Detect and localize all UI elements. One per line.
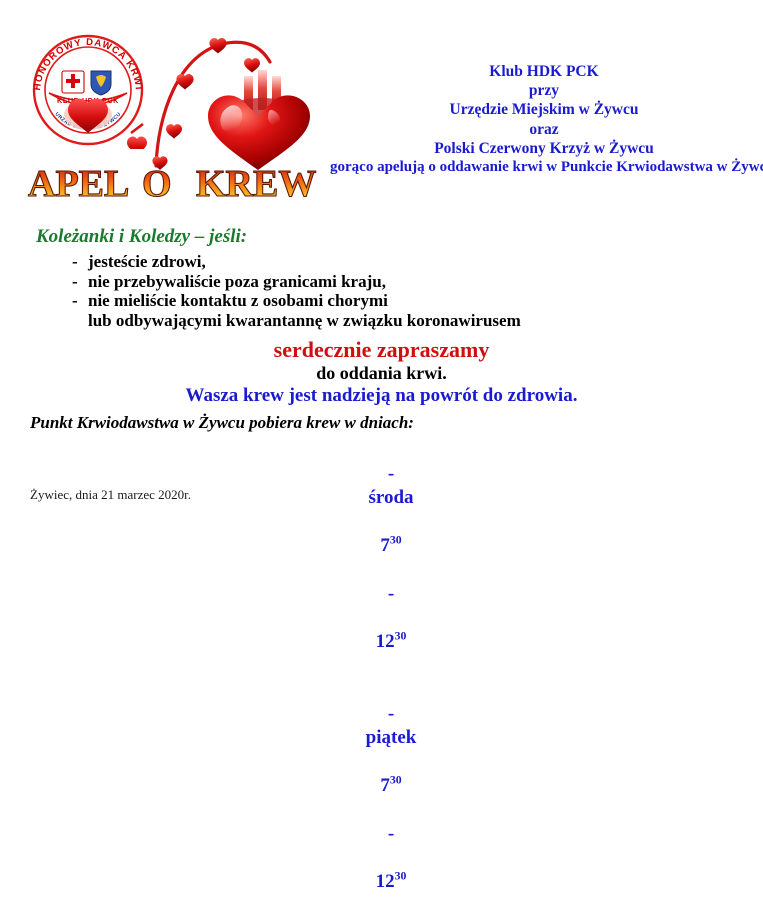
hours-separator: - xyxy=(388,823,394,844)
hdk-pck-emblem: HONOROWY DAWCA KRWI URZĄD MIEJSKI W ŻYWC… xyxy=(27,27,149,149)
title-word-o: O xyxy=(142,163,172,204)
header-line-5: Polski Czerwony Krzyż w Żywcu xyxy=(330,139,758,158)
header-line-4: oraz xyxy=(330,120,758,139)
list-item: - jesteście zdrowi, xyxy=(72,252,521,272)
title-word-krew: KREW xyxy=(196,163,316,204)
list-item: - nie przebywaliście poza granicami kraj… xyxy=(72,272,521,292)
hours-to-hour: 12 xyxy=(376,631,395,652)
cta-invite-line: serdecznie zapraszamy xyxy=(0,337,763,362)
header-line-2: przy xyxy=(330,81,758,100)
hours-day-label: środa xyxy=(368,487,413,508)
hours-dash: - xyxy=(388,703,394,724)
list-item-continuation: lub odbywającymi kwarantannę w związku k… xyxy=(72,311,521,331)
hours-to-min: 30 xyxy=(395,870,407,883)
emblem-pointer-heart-icon xyxy=(127,136,147,149)
emblem-coat-of-arms-icon xyxy=(91,71,111,95)
hours-row-friday: - piątek 730 - 1230 xyxy=(0,678,763,918)
header-line-6: gorąco apelują o oddawanie krwi w Punkci… xyxy=(330,158,758,177)
title-word-apel: APEL xyxy=(28,163,129,204)
list-item-label: nie przebywaliście poza granicami kraju, xyxy=(88,272,386,292)
footer-date: Żywiec, dnia 21 marzec 2020r. xyxy=(30,487,191,503)
list-item: - nie mieliście kontaktu z osobami chory… xyxy=(72,291,521,311)
hours-from-min: 30 xyxy=(390,774,402,787)
hours-heading: Punkt Krwiodawstwa w Żywcu pobiera krew … xyxy=(30,413,414,433)
header-line-3: Urzędzie Miejskim w Żywcu xyxy=(330,100,758,119)
list-dash: - xyxy=(72,252,88,272)
poster-title-apel-o-krew: APEL O KREW xyxy=(24,158,334,204)
cta-hope-line: Wasza krew jest nadzieją na powrót do zd… xyxy=(0,384,763,408)
hours-row-wednesday: - środa 730 - 1230 xyxy=(0,438,763,678)
cta-donate-line: do oddania krwi. xyxy=(0,362,763,384)
list-dash: - xyxy=(72,291,88,311)
hours-from-hour: 7 xyxy=(380,775,390,796)
list-item-label: jesteście zdrowi, xyxy=(88,252,206,272)
condition-list: - jesteście zdrowi, - nie przebywaliście… xyxy=(72,252,521,330)
header-line-1: Klub HDK PCK xyxy=(330,62,758,81)
call-to-action-block: serdecznie zapraszamy do oddania krwi. W… xyxy=(0,337,763,408)
hours-day-label: piątek xyxy=(366,727,417,748)
hours-dash: - xyxy=(388,463,394,484)
hours-separator: - xyxy=(388,583,394,604)
emblem-red-cross-icon xyxy=(62,71,84,93)
hours-to-hour: 12 xyxy=(376,871,395,892)
emblem-pointer-line xyxy=(131,124,143,133)
hours-from-min: 30 xyxy=(390,534,402,547)
hours-to-min: 30 xyxy=(395,630,407,643)
list-item-label: nie mieliście kontaktu z osobami chorymi xyxy=(88,291,388,311)
hours-from-hour: 7 xyxy=(380,535,390,556)
hours-list: - środa 730 - 1230 - piątek 730 - 1230 xyxy=(0,438,763,918)
organizer-header: Klub HDK PCK przy Urzędzie Miejskim w Ży… xyxy=(330,62,758,177)
list-dash: - xyxy=(72,272,88,292)
appeal-heading: Koleżanki i Koledzy – jeśli: xyxy=(36,226,247,248)
